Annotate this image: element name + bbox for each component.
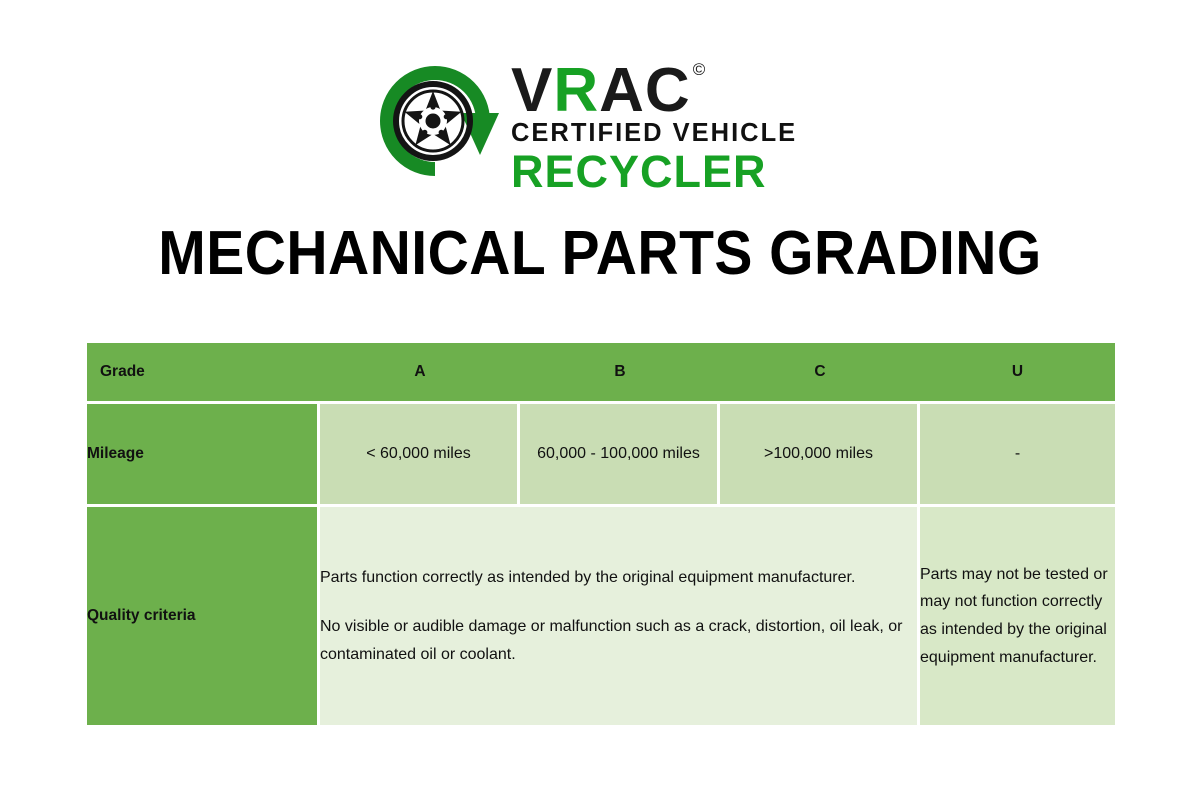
cell-quality-u: Parts may not be tested or may not funct… bbox=[920, 507, 1115, 725]
quality-abc-paragraph-1: Parts function correctly as intended by … bbox=[320, 564, 917, 592]
page-title: MECHANICAL PARTS GRADING bbox=[48, 218, 1152, 289]
cell-quality-abc: Parts function correctly as intended by … bbox=[320, 507, 920, 725]
header-grade: Grade bbox=[87, 343, 320, 404]
logo-letter-v: V bbox=[511, 56, 553, 125]
table-row-quality-criteria: Quality criteria Parts function correctl… bbox=[87, 507, 1115, 725]
logo-vrac-text: VRAC© bbox=[511, 61, 835, 122]
logo-letters-ac: AC bbox=[599, 56, 691, 125]
copyright-icon: © bbox=[693, 60, 707, 79]
quality-abc-paragraph-2: No visible or audible damage or malfunct… bbox=[320, 613, 917, 668]
row-label-mileage: Mileage bbox=[87, 404, 320, 507]
page-root: VRAC© CERTIFIED VEHICLE RECYCLER MECHANI… bbox=[0, 0, 1200, 800]
table-header-row: Grade A B C U bbox=[87, 343, 1115, 404]
row-label-quality-criteria: Quality criteria bbox=[87, 507, 320, 725]
cell-mileage-c: >100,000 miles bbox=[720, 404, 920, 507]
logo-tagline: CERTIFIED VEHICLE bbox=[511, 119, 835, 147]
logo-recycler-text: RECYCLER bbox=[511, 148, 835, 195]
mechanical-parts-grading-table: Grade A B C U Mileage < 60,000 miles 60,… bbox=[87, 343, 1115, 725]
logo-wordmark: VRAC© CERTIFIED VEHICLE RECYCLER bbox=[503, 55, 835, 195]
cell-mileage-a: < 60,000 miles bbox=[320, 404, 520, 507]
cell-mileage-b: 60,000 - 100,000 miles bbox=[520, 404, 720, 507]
cell-mileage-u: - bbox=[920, 404, 1115, 507]
vrac-logo: VRAC© CERTIFIED VEHICLE RECYCLER bbox=[375, 55, 835, 200]
logo-letter-r: R bbox=[553, 56, 599, 125]
header-grade-a: A bbox=[320, 343, 520, 404]
header-grade-b: B bbox=[520, 343, 720, 404]
header-grade-u: U bbox=[920, 343, 1115, 404]
header-grade-c: C bbox=[720, 343, 920, 404]
recycling-arrow-wheel-icon bbox=[375, 55, 503, 190]
table-row-mileage: Mileage < 60,000 miles 60,000 - 100,000 … bbox=[87, 404, 1115, 507]
